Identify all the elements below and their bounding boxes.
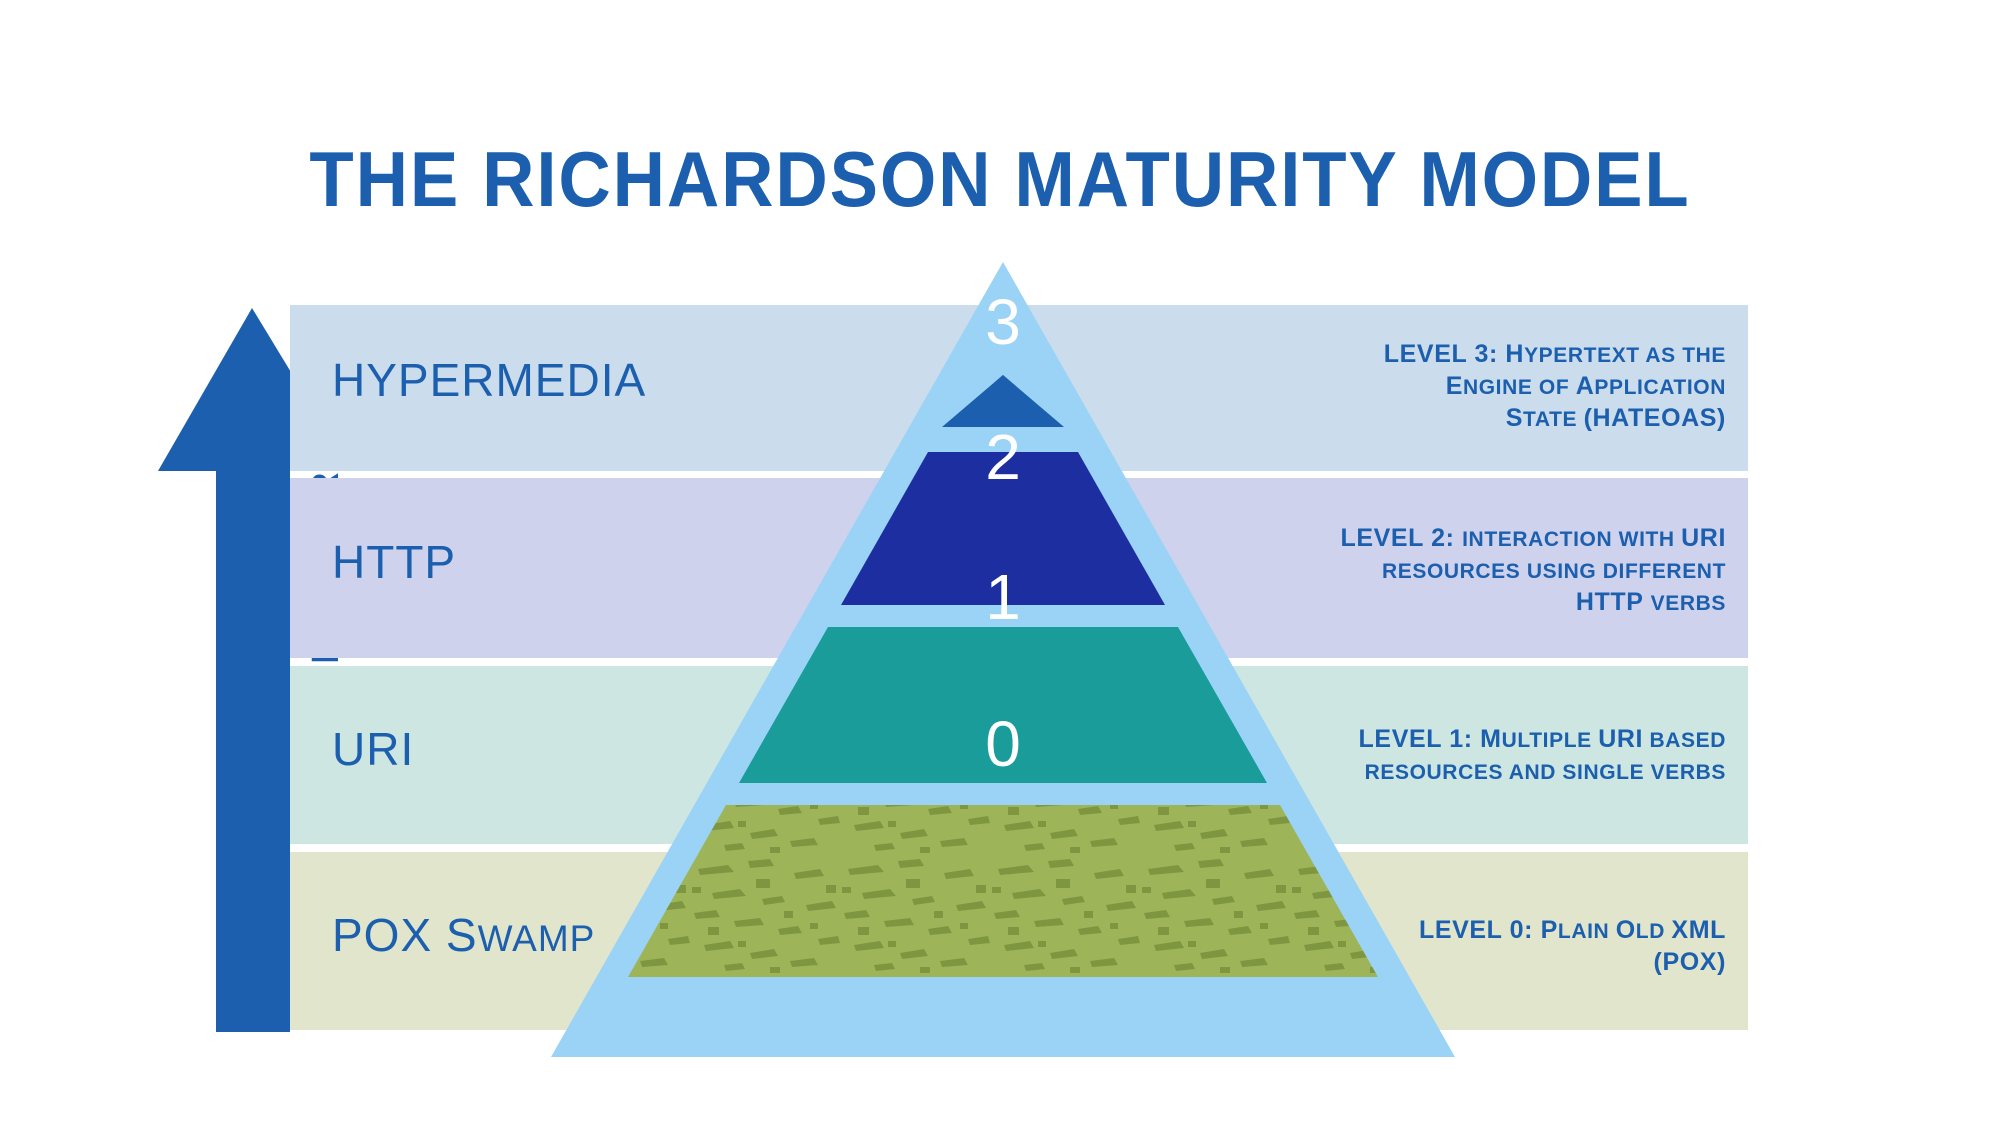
tier-number-2: 2	[943, 425, 1063, 489]
level-2-name: HTTP	[332, 535, 456, 589]
tier-number-3: 3	[943, 290, 1063, 354]
richardson-maturity-model-infographic: THE RICHARDSON MATURITY MODEL API MATURI…	[0, 0, 2000, 1125]
maturity-pyramid	[540, 255, 1470, 1065]
tier-number-1: 1	[943, 565, 1063, 629]
tier-number-0: 0	[943, 712, 1063, 776]
level-1-name: URI	[332, 722, 414, 776]
pyramid-tier-level-0-swamp	[628, 805, 1378, 977]
page-title: THE RICHARDSON MATURITY MODEL	[70, 140, 1930, 218]
